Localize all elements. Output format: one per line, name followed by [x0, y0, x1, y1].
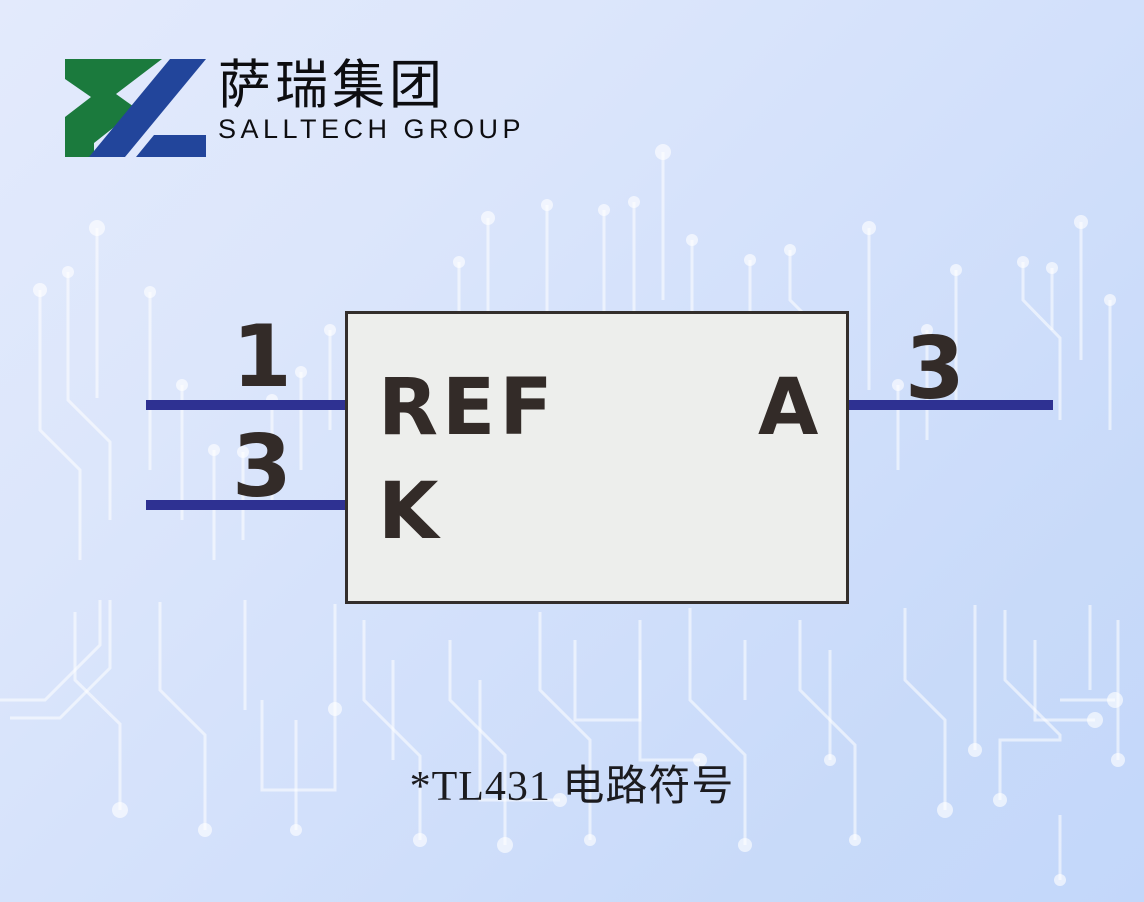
port-label-k: K	[378, 473, 442, 551]
pin-number-3-right: 3	[905, 326, 965, 412]
figure-caption: *TL431 电路符号	[0, 760, 1144, 814]
ic-body-box	[345, 311, 849, 604]
pin-number-3-left: 3	[232, 424, 292, 510]
port-label-a: A	[758, 369, 822, 447]
pin-number-1: 1	[232, 314, 292, 400]
slide-canvas: 萨瑞集团 SALLTECH GROUP 1 3 3 REF K A *TL431…	[0, 0, 1144, 902]
port-label-ref: REF	[378, 369, 557, 447]
